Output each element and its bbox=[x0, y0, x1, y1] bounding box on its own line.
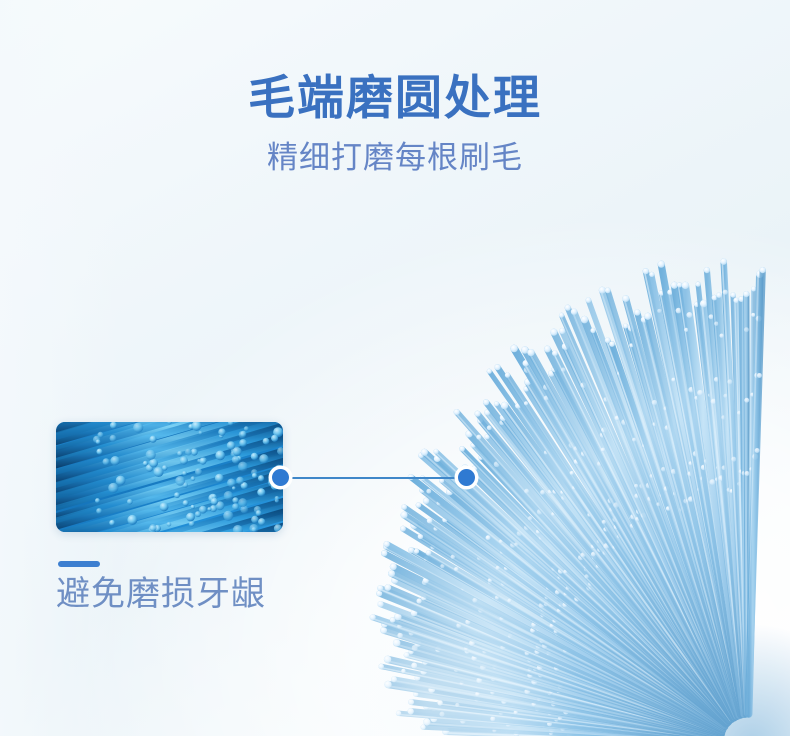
inset-bristle-tip bbox=[232, 456, 240, 464]
bristle-rounded-tip bbox=[565, 305, 571, 311]
inset-bristle-tip bbox=[191, 476, 196, 481]
bristle-tip-node bbox=[524, 401, 528, 405]
bristle-rounded-tip bbox=[381, 550, 387, 556]
bristle-tip-node bbox=[426, 489, 431, 494]
inset-bristle-tip bbox=[149, 459, 158, 468]
inset-bristle-tip bbox=[110, 422, 117, 429]
bristle-tip-node bbox=[401, 669, 405, 673]
bristle-rounded-tip bbox=[581, 316, 588, 323]
bristle-rounded-tip bbox=[414, 549, 419, 554]
bristle-rounded-tip bbox=[423, 498, 429, 504]
bristle-rounded-tip bbox=[384, 541, 390, 547]
inset-bristle-tip bbox=[167, 522, 172, 527]
inset-bristle-tip bbox=[127, 515, 137, 525]
bristle-rounded-tip bbox=[370, 614, 376, 620]
inset-bristle-tip bbox=[195, 511, 201, 517]
bristle-tip-node bbox=[723, 394, 727, 398]
bristle-rounded-tip bbox=[559, 313, 564, 318]
inset-bristle-tip bbox=[244, 426, 249, 431]
bristle-tip-node bbox=[744, 327, 749, 332]
inset-bristle-tip bbox=[127, 499, 133, 505]
inset-bristle-tip bbox=[96, 439, 101, 444]
bristle-tip-node bbox=[439, 712, 444, 717]
bristle-rounded-tip bbox=[391, 676, 397, 682]
inset-bristle-tip bbox=[256, 510, 262, 516]
inset-bristle-tip bbox=[215, 451, 225, 461]
bristle-rounded-tip bbox=[408, 699, 414, 705]
bristle-rounded-tip bbox=[423, 718, 430, 725]
inset-bristle-tip bbox=[160, 502, 169, 511]
inset-bristle-tip bbox=[175, 476, 185, 486]
bristle-rounded-tip bbox=[544, 346, 551, 353]
bristle-tip-node bbox=[486, 535, 491, 540]
inset-bristle-tip bbox=[251, 453, 258, 460]
bristle-rounded-tip bbox=[700, 300, 707, 307]
bristle-rounded-tip bbox=[599, 287, 606, 294]
inset-bristle-tip bbox=[259, 454, 268, 463]
bristle-rounded-tip bbox=[743, 291, 749, 297]
inset-bristle-tip bbox=[177, 451, 182, 456]
bristle-rounded-tip bbox=[416, 502, 422, 508]
inset-bristle-tip bbox=[180, 456, 188, 464]
bristle-tip-node bbox=[751, 313, 755, 317]
inset-bristle-tip bbox=[96, 449, 102, 455]
inset-bristle-tip bbox=[257, 488, 265, 496]
inset-bristle-tip bbox=[239, 431, 247, 439]
inset-bristle-tip bbox=[183, 500, 189, 506]
bristle-rounded-tip bbox=[487, 369, 492, 374]
bristle-rounded-tip bbox=[609, 341, 615, 347]
inset-bristle-tip bbox=[195, 468, 202, 475]
bristle-rounded-tip bbox=[396, 711, 401, 716]
bristle-tip-node bbox=[719, 334, 723, 338]
bristle-tip-node bbox=[686, 312, 692, 318]
page-title: 毛端磨圆处理 bbox=[0, 70, 790, 126]
bristle-rounded-tip bbox=[494, 364, 500, 370]
bristle-rounded-tip bbox=[401, 512, 408, 519]
inset-bristle-tip bbox=[207, 507, 211, 511]
inset-bristle-tip bbox=[258, 475, 264, 481]
inset-bristle-tip bbox=[218, 428, 226, 436]
inset-bristle-tip bbox=[233, 447, 242, 456]
bristle-rounded-tip bbox=[421, 449, 428, 456]
bristle-rounded-tip bbox=[704, 267, 710, 273]
inset-bristle-tip bbox=[227, 479, 236, 488]
inset-photo-art bbox=[56, 422, 283, 532]
bristle-tip-node bbox=[397, 633, 402, 638]
bristle-rounded-tip bbox=[377, 601, 383, 607]
bristle-rounded-tip bbox=[623, 324, 628, 329]
inset-bristle-tip bbox=[110, 456, 119, 465]
inset-bristle-tip bbox=[211, 498, 218, 505]
bristle-rounded-tip bbox=[426, 550, 432, 556]
bristle-tip-node bbox=[411, 663, 417, 669]
inset-bristle-tip bbox=[232, 497, 238, 503]
bristle-rounded-tip bbox=[571, 308, 577, 314]
bristle-rounded-tip bbox=[644, 313, 651, 320]
bristle-tip-node bbox=[676, 308, 682, 314]
inset-bristle-tip bbox=[191, 505, 195, 509]
bristle-tip-node bbox=[476, 435, 481, 440]
bristle-tip-node bbox=[723, 290, 728, 295]
inset-bristle-tip bbox=[149, 436, 156, 443]
inset-bristle-tip bbox=[232, 486, 236, 490]
inset-bristle-tip bbox=[215, 474, 224, 483]
inset-bristle-tip bbox=[96, 508, 102, 514]
bristle-rounded-tip bbox=[483, 399, 489, 405]
bristle-tip-node bbox=[755, 448, 760, 453]
inset-bristle-tip bbox=[186, 513, 195, 522]
bristle-tip-node bbox=[507, 599, 511, 603]
bristle-rounded-tip bbox=[682, 282, 689, 289]
bristle-rounded-tip bbox=[649, 272, 654, 277]
bristle-rounded-tip bbox=[433, 449, 438, 454]
bristle-rounded-tip bbox=[437, 700, 442, 705]
caption-accent-dash bbox=[58, 561, 100, 567]
inset-bristle-tip bbox=[149, 524, 156, 531]
bristle-rounded-tip bbox=[550, 329, 557, 336]
inset-bristle-tip bbox=[252, 473, 257, 478]
bristle-tip-node bbox=[757, 373, 762, 378]
bristle-tip-node bbox=[697, 390, 703, 396]
bristle-rounded-tip bbox=[390, 563, 397, 570]
bristle-rounded-tip bbox=[716, 293, 721, 298]
inset-bristle-tip bbox=[182, 471, 187, 476]
inset-bristle-tip bbox=[116, 476, 126, 486]
bristle-rounded-tip bbox=[459, 446, 465, 452]
bristle-rounded-tip bbox=[427, 518, 433, 524]
inset-bristle-tip bbox=[103, 458, 110, 465]
inset-bristle-tip bbox=[198, 431, 202, 435]
bristle-rounded-tip bbox=[658, 261, 665, 268]
bristle-tip-node bbox=[602, 520, 606, 524]
inset-bristle-tip bbox=[275, 496, 280, 501]
bristle-rounded-tip bbox=[439, 478, 444, 483]
bristle-rounded-tip bbox=[510, 345, 518, 353]
bristle-tip-node bbox=[570, 471, 574, 475]
callout-connector-line bbox=[288, 477, 460, 479]
bristle-rounded-tip bbox=[720, 258, 726, 264]
bristle-tip-node bbox=[524, 489, 529, 494]
bristle-tip-node bbox=[487, 425, 492, 430]
bristle-rounded-tip bbox=[605, 288, 611, 294]
inset-bristle-tip bbox=[232, 503, 239, 510]
inset-bristle-tip bbox=[162, 465, 167, 470]
inset-bristle-tip bbox=[223, 511, 233, 521]
bristle-tip-node bbox=[709, 479, 715, 485]
inset-bristle-tip bbox=[174, 492, 180, 498]
bristle-rounded-tip bbox=[505, 372, 510, 377]
bristle-tip-node bbox=[709, 314, 714, 319]
bristle-rounded-tip bbox=[385, 584, 392, 591]
inset-bristle-tip bbox=[258, 518, 265, 525]
bristle-rounded-tip bbox=[384, 656, 391, 663]
bristle-tip-node bbox=[601, 448, 606, 453]
callout-dot-target bbox=[458, 469, 475, 486]
bristle-rounded-tip bbox=[378, 664, 384, 670]
bristle-tip-node bbox=[652, 400, 658, 406]
bristle-rounded-tip bbox=[634, 309, 640, 315]
bristle-tip-node bbox=[671, 378, 675, 382]
inset-bristle-tip bbox=[199, 458, 206, 465]
inset-bristle-tip bbox=[236, 477, 244, 485]
bristle-tip-node bbox=[454, 567, 458, 571]
inset-bristle-tip bbox=[263, 438, 270, 445]
bristle-tip-node bbox=[416, 598, 421, 603]
bristle-tip-node bbox=[528, 516, 532, 520]
bristle-rounded-tip bbox=[377, 585, 383, 591]
bristle-rounded-tip bbox=[751, 286, 756, 291]
bristle-tip-node bbox=[455, 703, 459, 707]
inset-bristle-tip bbox=[271, 435, 278, 442]
bristle-rounded-tip bbox=[671, 282, 678, 289]
bristle-rounded-tip bbox=[677, 282, 682, 287]
bristle-rounded-tip bbox=[760, 267, 766, 273]
bristle-rounded-tip bbox=[643, 268, 649, 274]
page-subtitle: 精细打磨每根刷毛 bbox=[0, 138, 790, 178]
bristle-rounded-tip bbox=[552, 350, 558, 356]
bristle-rounded-tip bbox=[590, 328, 595, 333]
bristle-tip-node bbox=[490, 716, 495, 721]
bristle-rounded-tip bbox=[400, 526, 406, 532]
bristle-rounded-tip bbox=[408, 708, 414, 714]
bristle-rounded-tip bbox=[475, 411, 481, 417]
bristle-tip-node bbox=[714, 321, 718, 325]
bristle-tip-node bbox=[540, 490, 545, 495]
inset-bristle-tip bbox=[97, 432, 103, 438]
bristle-rounded-tip bbox=[527, 349, 534, 356]
bristle-rounded-tip bbox=[388, 570, 395, 577]
inset-bristle-tip bbox=[110, 435, 117, 442]
inset-bristle-tip bbox=[189, 521, 195, 527]
inset-bristle-tip bbox=[108, 483, 118, 493]
callout-caption: 避免磨损牙龈 bbox=[56, 573, 266, 615]
inset-bristle-tip bbox=[239, 439, 247, 447]
bristle-tip-node bbox=[727, 379, 732, 384]
inset-bristle-tip bbox=[133, 423, 143, 433]
bristle-rounded-tip bbox=[730, 292, 735, 297]
inset-bristle-tip bbox=[146, 450, 156, 460]
bristle-rounded-tip bbox=[393, 639, 401, 647]
inset-bristle-tip bbox=[95, 498, 100, 503]
inset-bristle-tip bbox=[153, 467, 163, 477]
bristle-tip-node bbox=[634, 484, 638, 488]
bristle-rounded-tip bbox=[501, 402, 508, 409]
bristle-rounded-tip bbox=[454, 409, 460, 415]
callout-dot-inset bbox=[272, 469, 289, 486]
product-feature-panel: 毛端磨圆处理 精细打磨每根刷毛 bbox=[0, 0, 790, 736]
bristle-rounded-tip bbox=[384, 681, 391, 688]
bristle-rounded-tip bbox=[622, 295, 629, 302]
bristle-rounded-tip bbox=[733, 298, 739, 304]
bristle-rounded-tip bbox=[421, 725, 426, 730]
bristle-tip-node bbox=[657, 309, 661, 313]
bristle-rounded-tip bbox=[586, 297, 592, 303]
bristle-rounded-tip bbox=[408, 547, 414, 553]
bristle-tip-node bbox=[744, 398, 749, 403]
inset-bristle-tip bbox=[109, 520, 115, 526]
bristle-rounded-tip bbox=[494, 401, 499, 406]
inset-bristle-tip bbox=[238, 462, 248, 472]
bristle-rounded-tip bbox=[559, 328, 565, 334]
inset-bristle-tip bbox=[251, 516, 258, 523]
inset-bristle-tip bbox=[224, 491, 233, 500]
bristle-rounded-tip bbox=[696, 282, 701, 287]
bristle-tip-node bbox=[731, 457, 736, 462]
bristle-macro-inset-photo bbox=[56, 422, 283, 532]
inset-bristle-tip bbox=[238, 498, 247, 507]
bristle-rounded-tip bbox=[401, 504, 407, 510]
bristle-rounded-tip bbox=[404, 652, 410, 658]
inset-bristle-tip bbox=[185, 449, 192, 456]
bristle-tip-node bbox=[561, 368, 566, 373]
